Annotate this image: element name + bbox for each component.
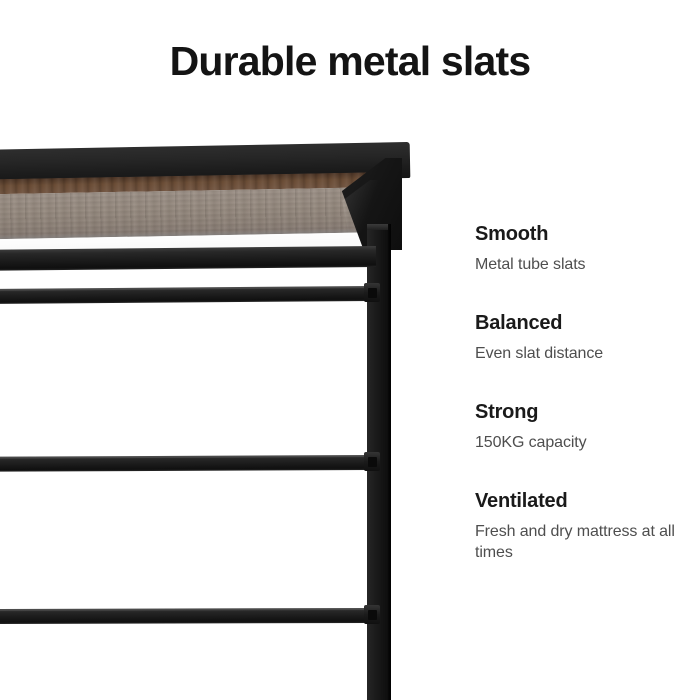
slat-joint-inner	[368, 457, 377, 467]
feature-title: Ventilated	[475, 489, 675, 514]
feature-item-strong: Strong 150KG capacity	[475, 400, 675, 453]
product-photo	[0, 128, 440, 700]
upper-support-beam	[0, 246, 376, 271]
feature-description: Metal tube slats	[475, 254, 675, 275]
feature-title: Balanced	[475, 311, 675, 336]
feature-item-balanced: Balanced Even slat distance	[475, 311, 675, 364]
feature-description: Even slat distance	[475, 343, 675, 364]
slat-joint-bracket	[364, 605, 380, 624]
metal-slat	[0, 455, 372, 472]
feature-list: Smooth Metal tube slats Balanced Even sl…	[475, 222, 675, 564]
slat-joint-bracket	[364, 283, 380, 302]
vertical-side-rail-edge	[388, 224, 391, 700]
metal-slat	[0, 286, 372, 304]
product-feature-panel: Durable metal slats	[0, 0, 700, 700]
feature-description: Fresh and dry mattress at all times	[475, 521, 675, 563]
feature-item-smooth: Smooth Metal tube slats	[475, 222, 675, 275]
feature-title: Strong	[475, 400, 675, 425]
metal-slat	[0, 608, 372, 624]
page-title: Durable metal slats	[0, 38, 700, 85]
slat-joint-inner	[368, 288, 377, 298]
feature-title: Smooth	[475, 222, 675, 247]
slat-joint-bracket	[364, 452, 380, 471]
feature-item-ventilated: Ventilated Fresh and dry mattress at all…	[475, 489, 675, 563]
vertical-side-rail-cap	[367, 224, 390, 230]
feature-description: 150KG capacity	[475, 432, 675, 453]
slat-joint-inner	[368, 610, 377, 620]
